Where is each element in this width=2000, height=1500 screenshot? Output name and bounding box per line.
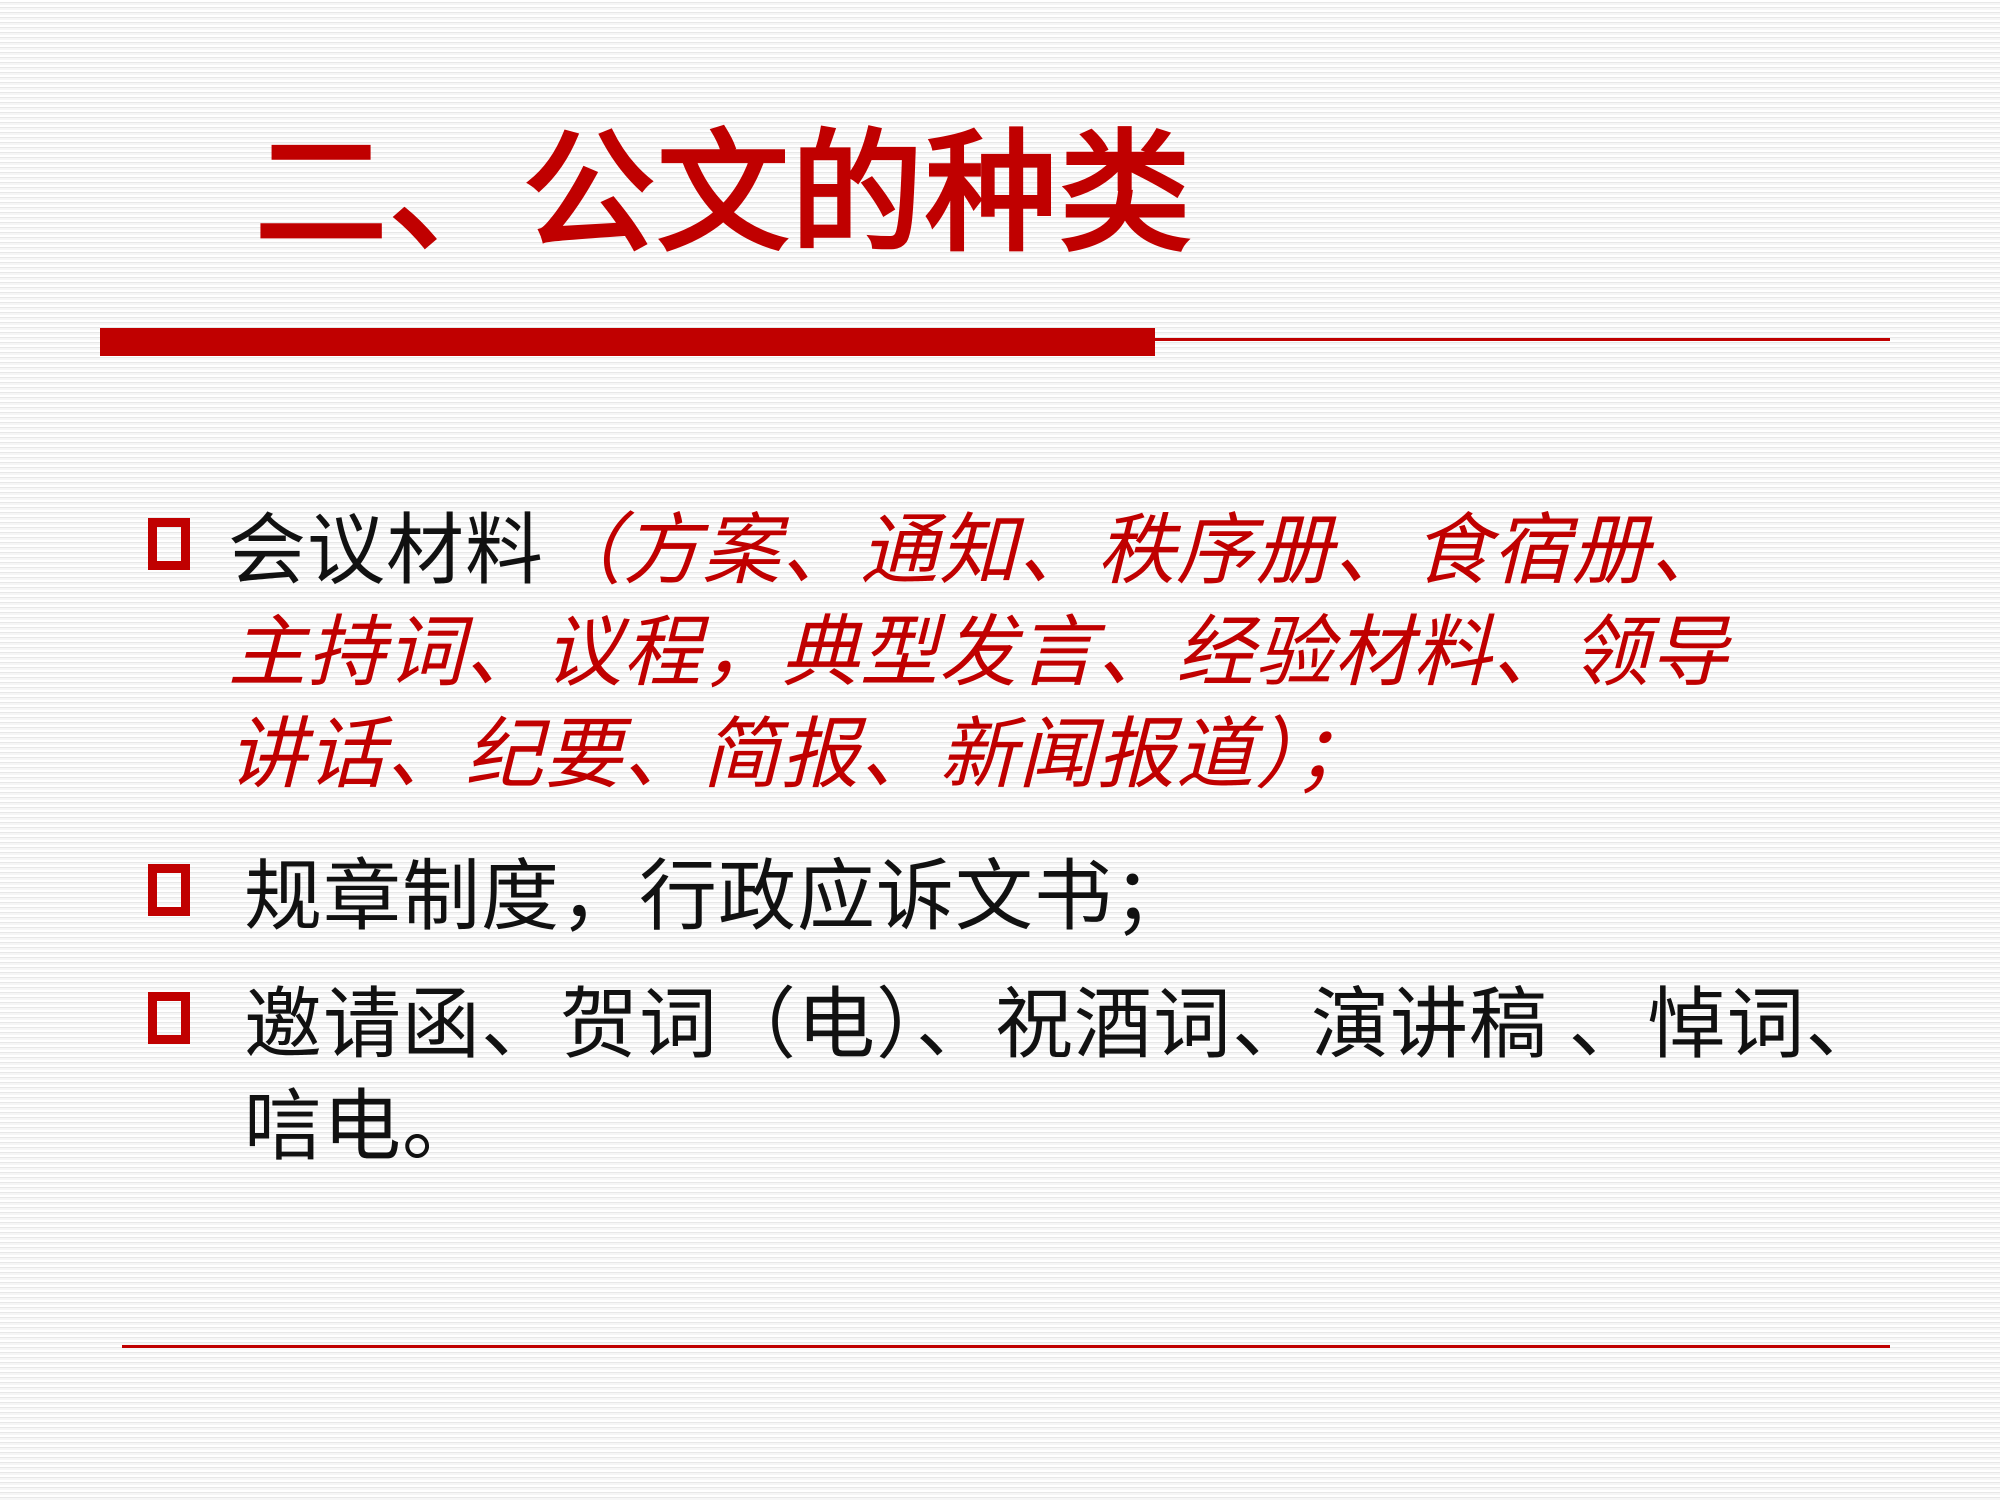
list-item: 会议材料（方案、通知、秩序册、食宿册、主持词、议程，典型发言、经验材料、领导讲话… bbox=[0, 500, 2000, 806]
footer-divider bbox=[122, 1345, 1890, 1348]
body-content: 会议材料（方案、通知、秩序册、食宿册、主持词、议程，典型发言、经验材料、领导讲话… bbox=[0, 500, 2000, 1178]
page-title: 二、公文的种类 bbox=[255, 120, 1193, 270]
list-item: 邀请函、贺词（电）、祝酒词、演讲稿 、悼词、唁电。 bbox=[0, 974, 2000, 1178]
title-area: 二、公文的种类 bbox=[0, 120, 2000, 310]
list-item-text: 会议材料（方案、通知、秩序册、食宿册、主持词、议程，典型发言、经验材料、领导讲话… bbox=[148, 500, 2000, 806]
slide-canvas: 二、公文的种类 会议材料（方案、通知、秩序册、食宿册、主持词、议程，典型发言、经… bbox=[0, 0, 2000, 1500]
square-bullet-icon bbox=[148, 992, 190, 1044]
square-bullet-icon bbox=[148, 864, 190, 916]
square-bullet-icon bbox=[148, 518, 190, 570]
list-item-text: 规章制度，行政应诉文书； bbox=[148, 846, 2000, 948]
list-item-text-black: 会议材料 bbox=[228, 507, 544, 594]
title-underline-thick bbox=[100, 328, 1155, 356]
list-item: 规章制度，行政应诉文书； bbox=[0, 846, 2000, 948]
list-item-text: 邀请函、贺词（电）、祝酒词、演讲稿 、悼词、唁电。 bbox=[148, 974, 2000, 1178]
